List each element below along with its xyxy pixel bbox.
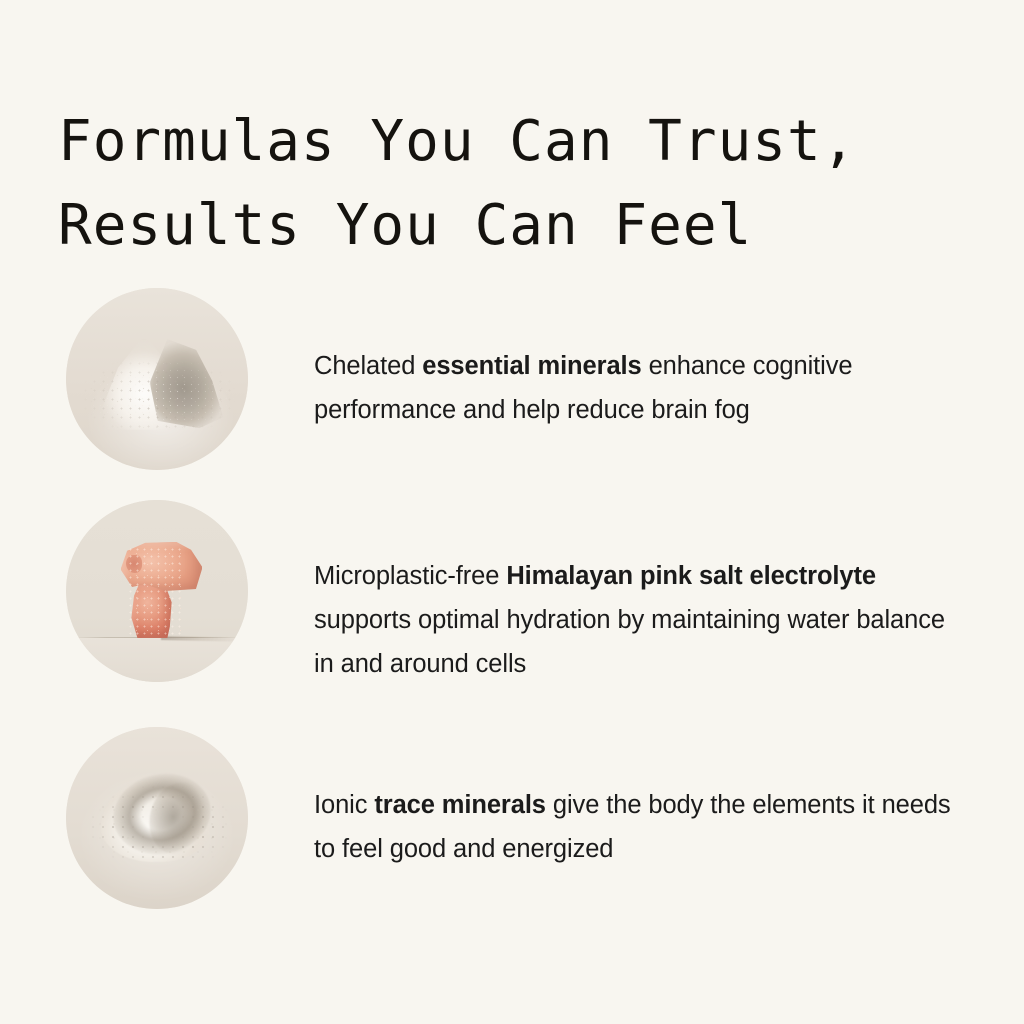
benefit-text-highlight: Himalayan pink salt electrolyte [506,562,876,590]
photo-backdrop [66,500,248,682]
page-title: Formulas You Can Trust, Results You Can … [58,100,978,268]
benefits-list: Chelated essential minerals enhance cogn… [0,288,1024,939]
benefit-text-prefix: Ionic [314,791,374,819]
benefit-text-suffix: supports optimal hydration by maintainin… [314,606,945,678]
benefit-text-highlight: essential minerals [422,352,641,380]
benefit-item: Microplastic-free Himalayan pink salt el… [0,500,1024,727]
benefit-text: Ionic trace minerals give the body the e… [314,753,962,871]
benefit-text-prefix: Chelated [314,352,422,380]
benefit-text: Chelated essential minerals enhance cogn… [314,314,962,432]
himalayan-salt-rock-photo [66,500,248,682]
benefit-text-highlight: trace minerals [374,791,546,819]
benefit-item: Ionic trace minerals give the body the e… [0,727,1024,939]
benefit-text-prefix: Microplastic-free [314,562,506,590]
benefit-text: Microplastic-free Himalayan pink salt el… [314,526,962,686]
marketing-infographic: Formulas You Can Trust, Results You Can … [0,0,1024,1024]
trace-mineral-powder-photo [66,727,248,909]
mineral-powder-photo [66,288,248,470]
powder-granule-texture [81,350,238,434]
table-surface [66,637,248,683]
photo-backdrop [66,727,248,909]
powder-granule-texture [88,782,230,866]
photo-backdrop [66,288,248,470]
benefit-item: Chelated essential minerals enhance cogn… [0,288,1024,500]
salt-crystal-sparkle [126,544,181,639]
